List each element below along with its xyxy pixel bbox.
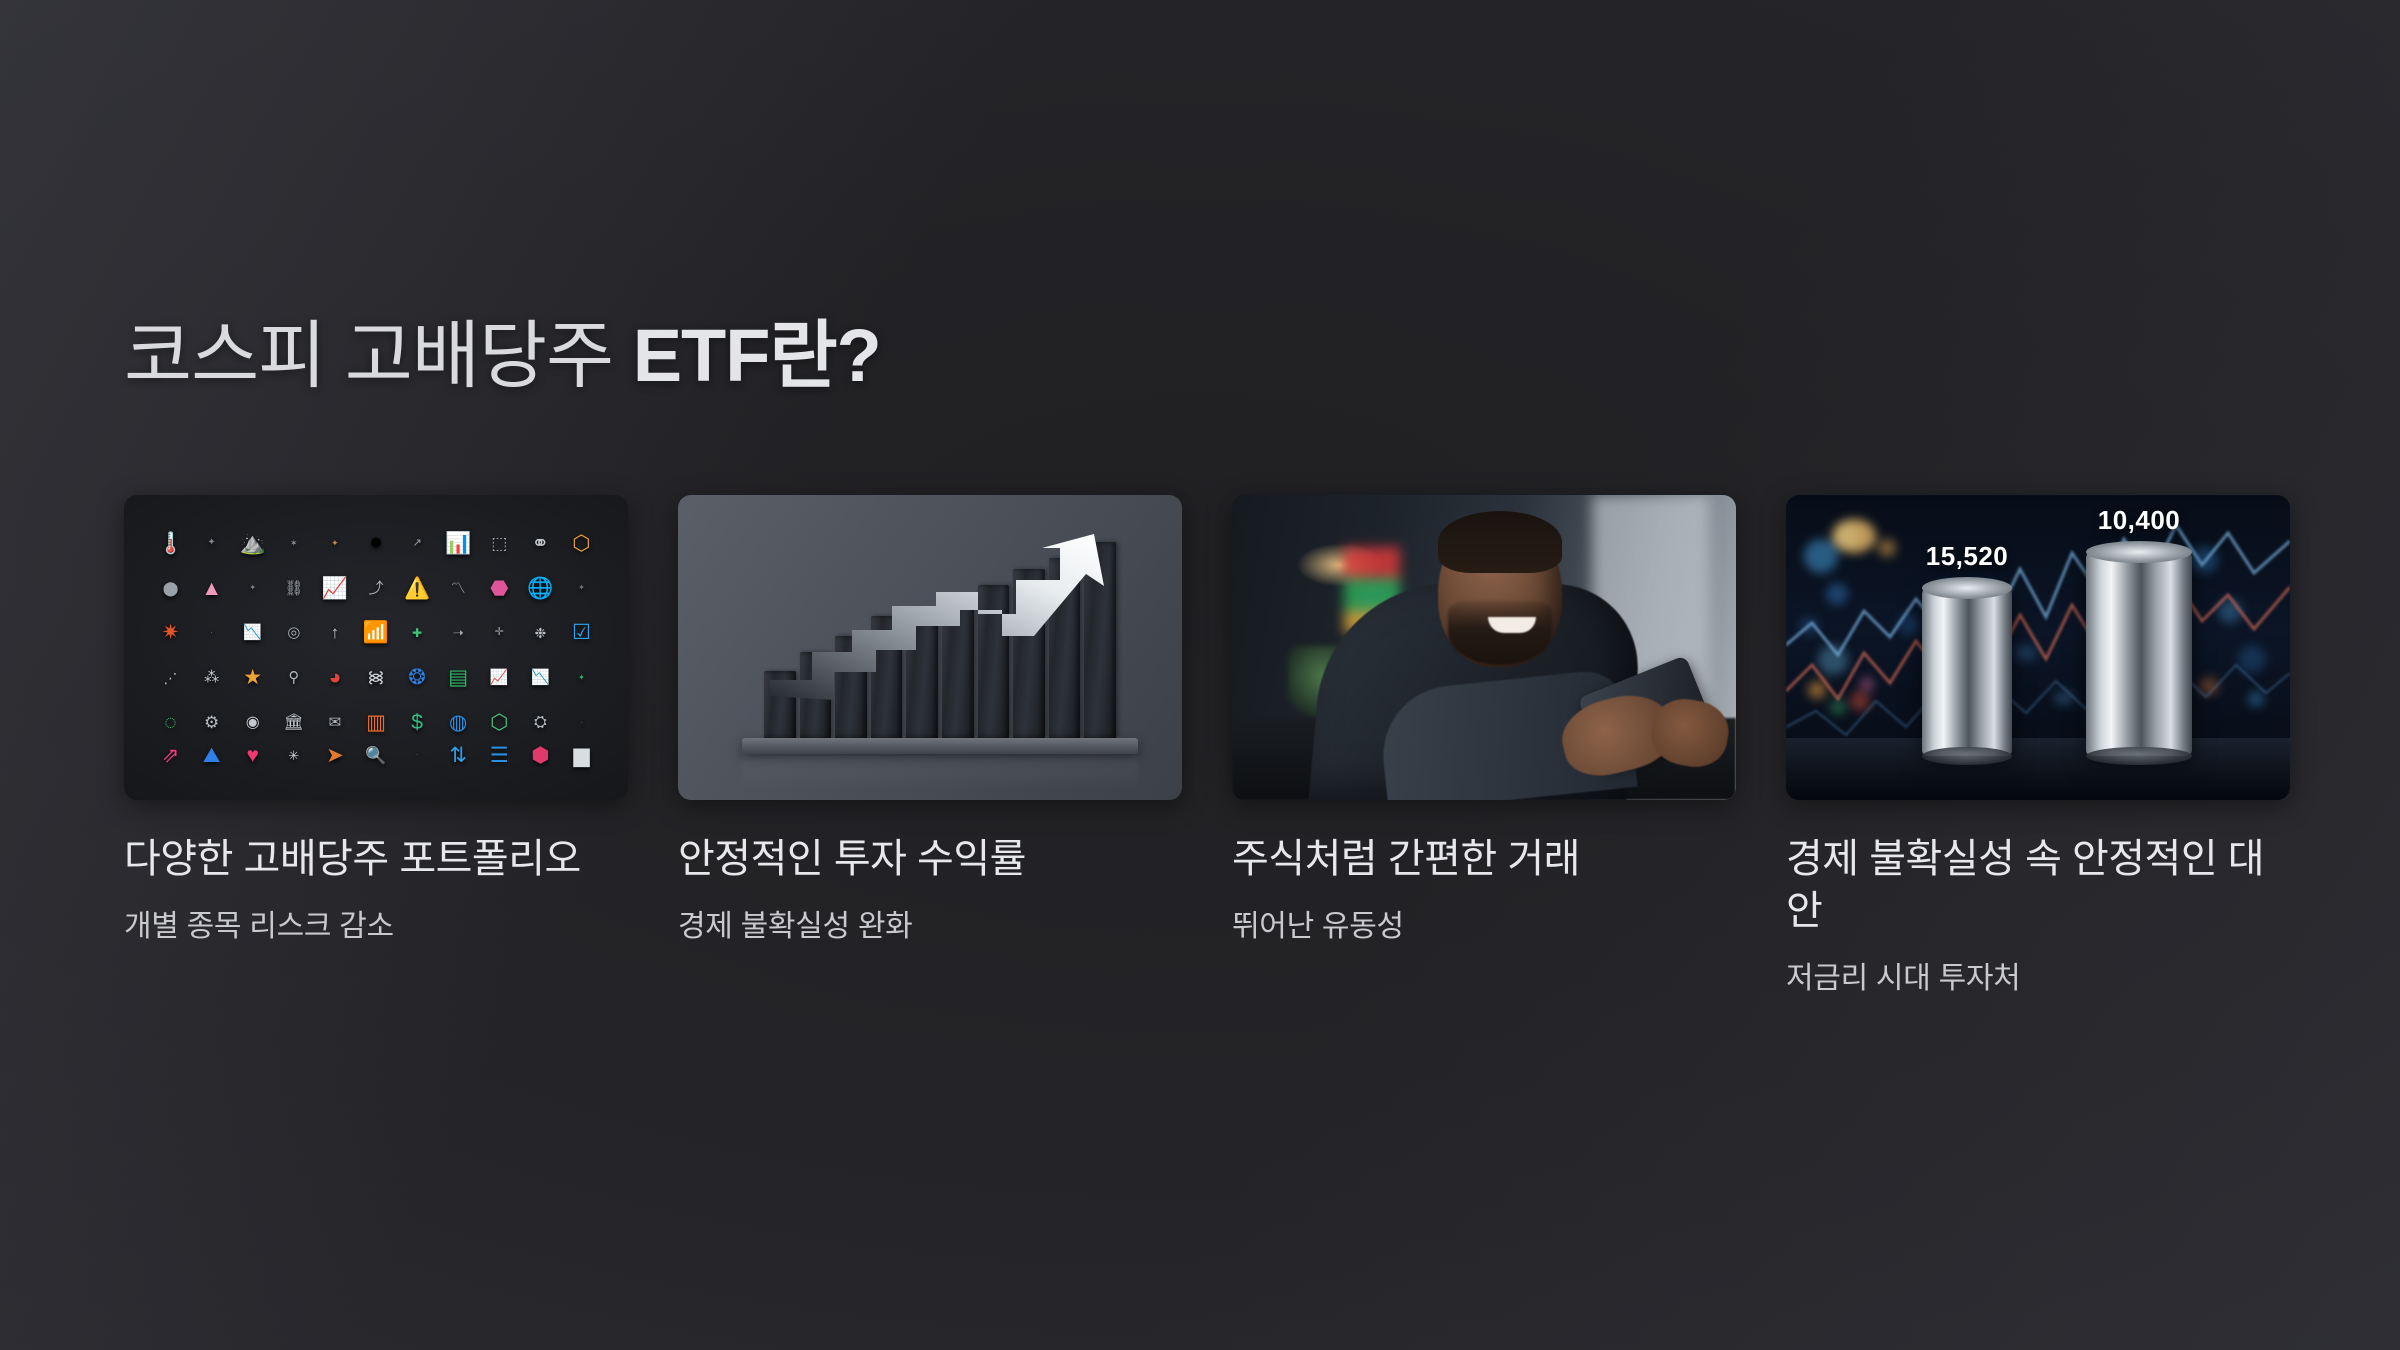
sparkle-dot-icon: ✦ [207, 538, 215, 548]
dollar-cursor-icon: $ [411, 712, 423, 733]
plus-icon: ✚ [412, 627, 422, 639]
sparkle-dot-icon: ✦ [331, 539, 339, 548]
trend-line-icon: ⤴ [368, 581, 383, 596]
upward-arrow-icon [756, 532, 1128, 704]
data-flow-icon: ☰ [490, 745, 509, 766]
person-beard [1448, 601, 1552, 665]
lock-gear-icon: ⛭ [534, 715, 547, 731]
page-title-regular: 코스피 고배당주 [124, 314, 633, 397]
snowflake-icon: ❉ [534, 626, 546, 640]
compass-icon: ◎ [287, 625, 300, 640]
link-icon: ⛓ [284, 581, 303, 596]
bar-chart-orange-icon: ▥ [366, 712, 386, 733]
chart-reflection [742, 756, 1138, 790]
card-title: 다양한 고배당주 포트폴리오 [124, 833, 628, 885]
feature-card-grid: 🌡️ ✦ ⛰️ ✶ ✦ ⚫ ↗ 📊 ⬚ ⚭ ⬡ ⬤ ▲ ✦ ⛓ 📈 ⤴ [124, 495, 2274, 998]
stamp-icon: ⬢ [531, 745, 549, 766]
line-chart-up-icon: 📈 [322, 578, 348, 599]
molecule-icon: ⚭ [532, 533, 550, 554]
bar-chart-white-icon: ▆ [573, 745, 589, 766]
mountain-chart-icon: 📉 [243, 625, 262, 640]
magnifier-icon: 🔍 [365, 747, 386, 764]
cloud-icon: ⛰️ [240, 533, 266, 554]
arrow-up-icon: ↑ [331, 624, 340, 641]
shield-chart-icon: ⬡ [572, 533, 590, 554]
card-title: 주식처럼 간편한 거래 [1232, 833, 1736, 885]
circular-arrow-icon: ◌ [164, 712, 176, 733]
sphere-icon: ⚫ [367, 533, 385, 554]
molecule-link-icon: ⁂ [204, 670, 219, 685]
spacer-icon: · [580, 719, 583, 727]
target-icon: ◉ [246, 715, 260, 731]
star-icon: ★ [243, 667, 262, 688]
sparkle-dot-icon: ✦ [249, 584, 256, 592]
icon-collage-grid: 🌡️ ✦ ⛰️ ✶ ✦ ⚫ ↗ 📊 ⬚ ⚭ ⬡ ⬤ ▲ ✦ ⛓ 📈 ⤴ [150, 521, 602, 766]
metal-cylinder-right [2086, 552, 2192, 756]
line-chart-icon: 📈 [490, 670, 509, 685]
hexagon-box-icon: ⬣ [490, 578, 508, 599]
card-subtitle: 뛰어난 유동성 [1232, 907, 1736, 946]
swap-arrows-icon: ⇅ [449, 745, 467, 766]
hexagon-j-icon: ⬡ [490, 712, 508, 733]
pie-chart-icon: ◕ [329, 667, 342, 688]
zigzag-chart-icon: 〽 [451, 581, 466, 596]
bank-chart-icon: 🏛 [284, 715, 304, 731]
card-title: 경제 불확실성 속 안정적인 대안 [1786, 833, 2290, 937]
feature-card-trading[interactable]: 주식처럼 간편한 거래 뛰어난 유동성 [1232, 495, 1736, 998]
spacer-icon: · [416, 751, 419, 759]
heart-icon: ♥ [246, 745, 258, 766]
envelope-icon: ✉ [329, 715, 342, 730]
coins-stack-icon: ▤ [448, 667, 468, 688]
metal-cylinder-left [1922, 588, 2012, 756]
wifi-icon: ᯼ [367, 670, 384, 686]
network-graph-icon: ⬚ [491, 535, 507, 552]
rising-bar-chart-arrow-thumbnail [678, 495, 1182, 800]
gear-color-icon: ⚙ [204, 714, 219, 731]
metal-cylinder-bars-thumbnail: 15,520 10,400 [1786, 495, 2290, 800]
check-square-icon: ☑ [572, 622, 591, 643]
gear-sun-icon: ✷ [162, 622, 180, 643]
globe-icon: 🌐 [527, 578, 553, 599]
finance-icon-collage-thumbnail: 🌡️ ✦ ⛰️ ✶ ✦ ⚫ ↗ 📊 ⬚ ⚭ ⬡ ⬤ ▲ ✦ ⛓ 📈 ⤴ [124, 495, 628, 800]
star-dot-icon: ✶ [290, 539, 298, 548]
feature-card-alternative[interactable]: 15,520 10,400 경제 불확실성 속 안정적인 대안 저금리 시대 투… [1786, 495, 2290, 998]
microscope-icon: ⚲ [288, 670, 299, 685]
node-link-icon: ⋰ [164, 671, 178, 685]
cylinder-value-left: 15,520 [1922, 541, 2012, 572]
feature-card-portfolio[interactable]: 🌡️ ✦ ⛰️ ✶ ✦ ⚫ ↗ 📊 ⬚ ⚭ ⬡ ⬤ ▲ ✦ ⛓ 📈 ⤴ [124, 495, 628, 998]
sparkle-dot-icon: ✦ [578, 584, 585, 592]
page-title: 코스피 고배당주 ETF란? [124, 296, 881, 403]
page-title-emphasis: ETF란? [633, 314, 881, 397]
warning-triangle-icon: ⚠️ [404, 578, 430, 599]
declining-chart-icon: 📉 [531, 670, 550, 685]
sparkle-icon: ✳ [288, 749, 299, 762]
bar-chart-icon: 📊 [445, 533, 471, 554]
person-hair [1438, 511, 1562, 573]
feature-card-returns[interactable]: 안정적인 투자 수익률 경제 불확실성 완화 [678, 495, 1182, 998]
arrow-right-icon: ➝ [453, 626, 464, 639]
sparkle-dot-icon: · [210, 629, 213, 637]
cylinder-value-right: 10,400 [2086, 505, 2192, 536]
trend-dot-icon: ↗ [412, 538, 421, 549]
growth-circle-icon: ◍ [449, 712, 467, 733]
plus-icon: ✛ [495, 627, 504, 638]
slide-root: 코스피 고배당주 ETF란? 🌡️ ✦ ⛰️ ✶ ✦ ⚫ ↗ 📊 ⬚ ⚭ ⬡ ⬤ [0, 0, 2400, 1350]
floor-surface [1786, 738, 2290, 800]
card-subtitle: 경제 불확실성 완화 [678, 907, 1182, 946]
arrow-trend-pink-icon: ⇗ [162, 745, 180, 766]
mountain-blue-icon: ⛰ [203, 745, 221, 766]
card-subtitle: 개별 종목 리스크 감소 [124, 907, 628, 946]
bird-icon: ➤ [326, 745, 344, 766]
card-subtitle: 저금리 시대 투자처 [1786, 959, 2290, 998]
card-title: 안정적인 투자 수익률 [678, 833, 1182, 885]
man-using-smartphone-thumbnail [1232, 495, 1736, 800]
sparkle-dot-icon: ✦ [578, 674, 585, 682]
cluster-dots-icon: ❂ [408, 667, 426, 688]
sphere-small-icon: ⬤ [163, 581, 179, 595]
thermometer-icon: 🌡️ [157, 533, 183, 554]
gold-bar-chart-icon: 📶 [363, 622, 389, 643]
arrow-up-pink-icon: ▲ [201, 578, 222, 599]
chart-base-plate [742, 738, 1138, 754]
